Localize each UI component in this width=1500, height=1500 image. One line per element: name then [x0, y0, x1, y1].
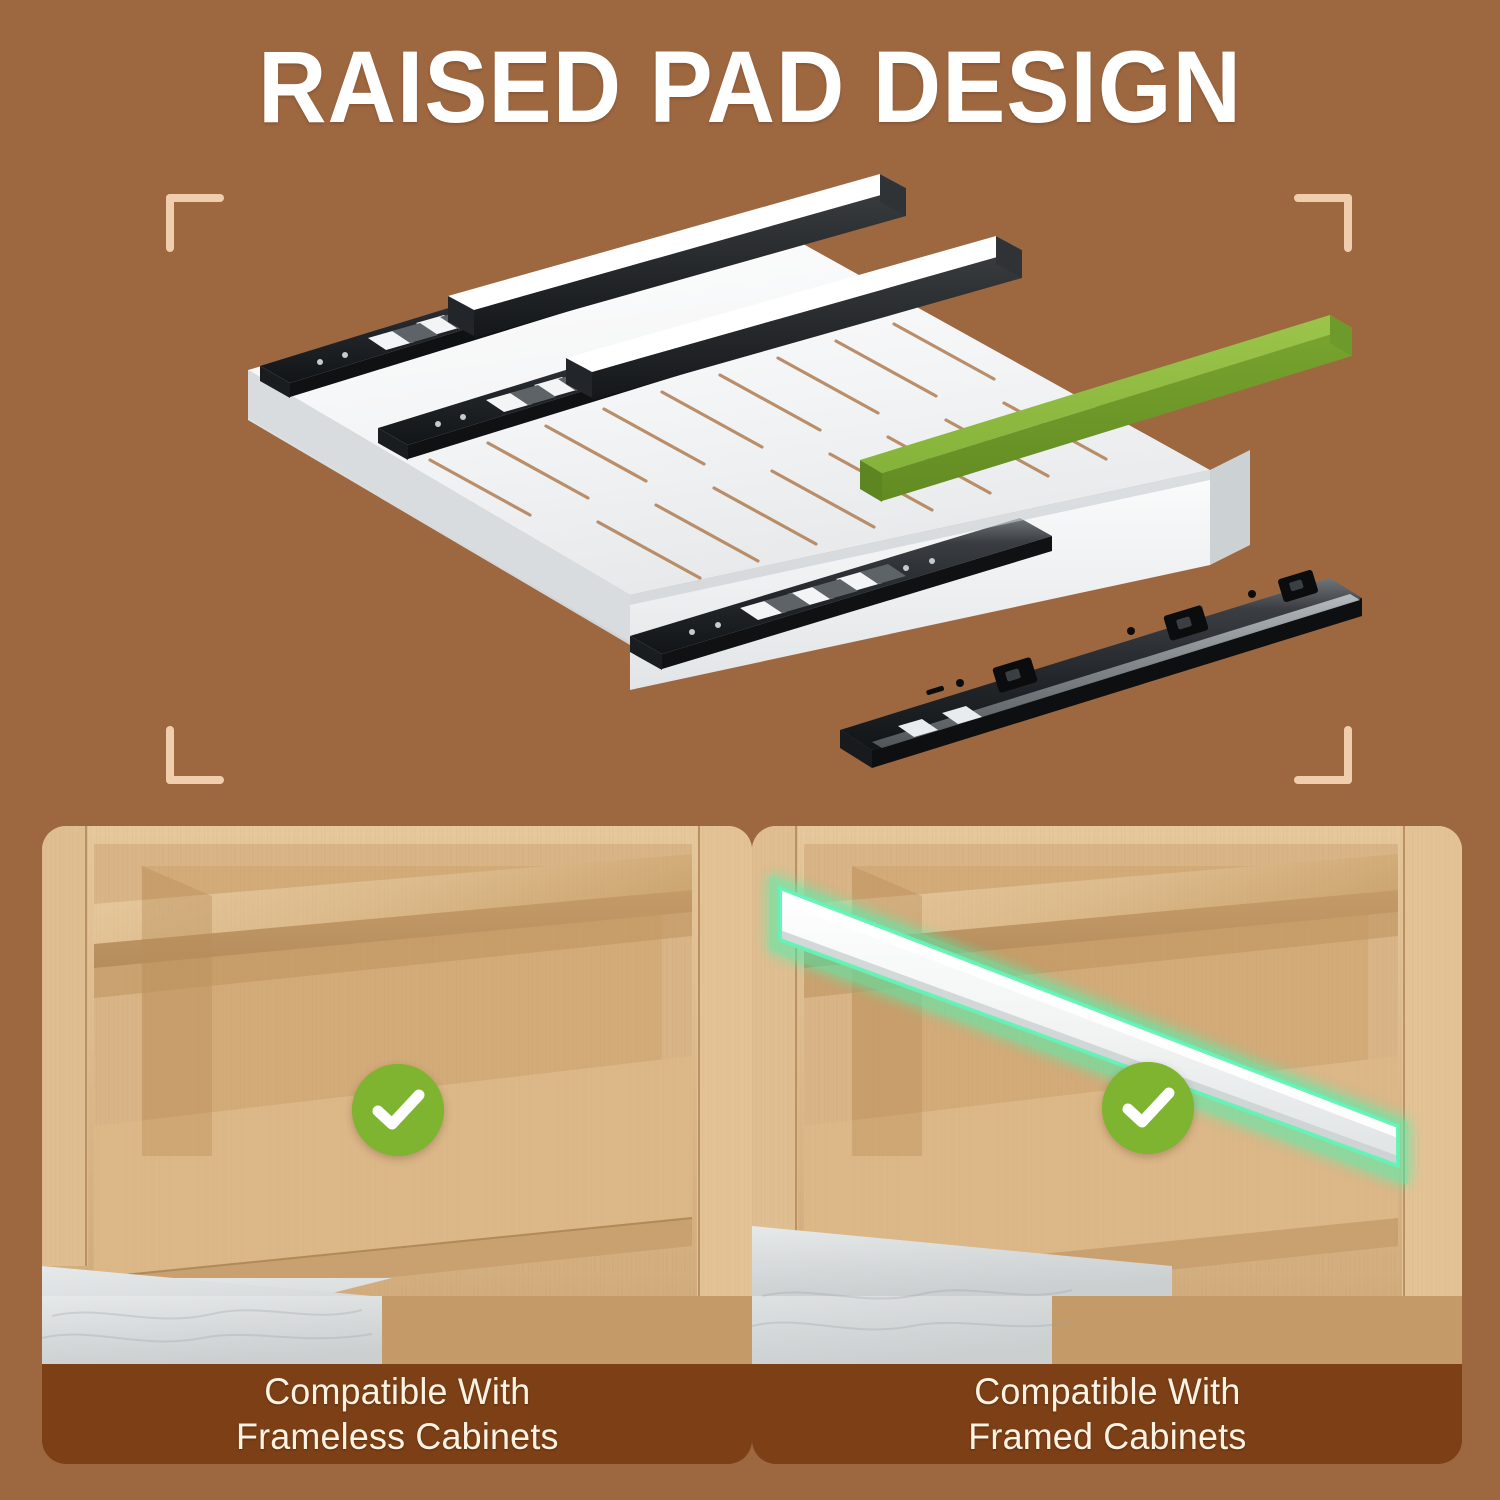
check-icon — [1102, 1062, 1194, 1154]
caption-frameless-line1: Compatible With — [264, 1371, 530, 1412]
panel-frameless-cabinet[interactable]: Compatible With Frameless Cabinets — [42, 826, 752, 1464]
caption-framed-line1: Compatible With — [974, 1371, 1240, 1412]
caption-framed: Compatible With Framed Cabinets — [752, 1364, 1462, 1464]
check-icon — [352, 1064, 444, 1156]
caption-framed-line2: Framed Cabinets — [968, 1416, 1246, 1457]
hero-product-image — [200, 170, 1420, 810]
caption-frameless-line2: Frameless Cabinets — [236, 1416, 559, 1457]
infographic-root: RAISED PAD DESIGN — [0, 0, 1500, 1500]
check-badge-framed — [1102, 1062, 1194, 1154]
check-badge-frameless — [352, 1064, 444, 1156]
panel-framed-cabinet[interactable]: Compatible With Framed Cabinets — [752, 826, 1462, 1464]
page-title: RAISED PAD DESIGN — [53, 36, 1448, 138]
comparison-panels: Compatible With Frameless Cabinets — [0, 826, 1500, 1466]
pull-out-shelf-svg — [200, 170, 1420, 810]
caption-frameless: Compatible With Frameless Cabinets — [42, 1364, 752, 1464]
